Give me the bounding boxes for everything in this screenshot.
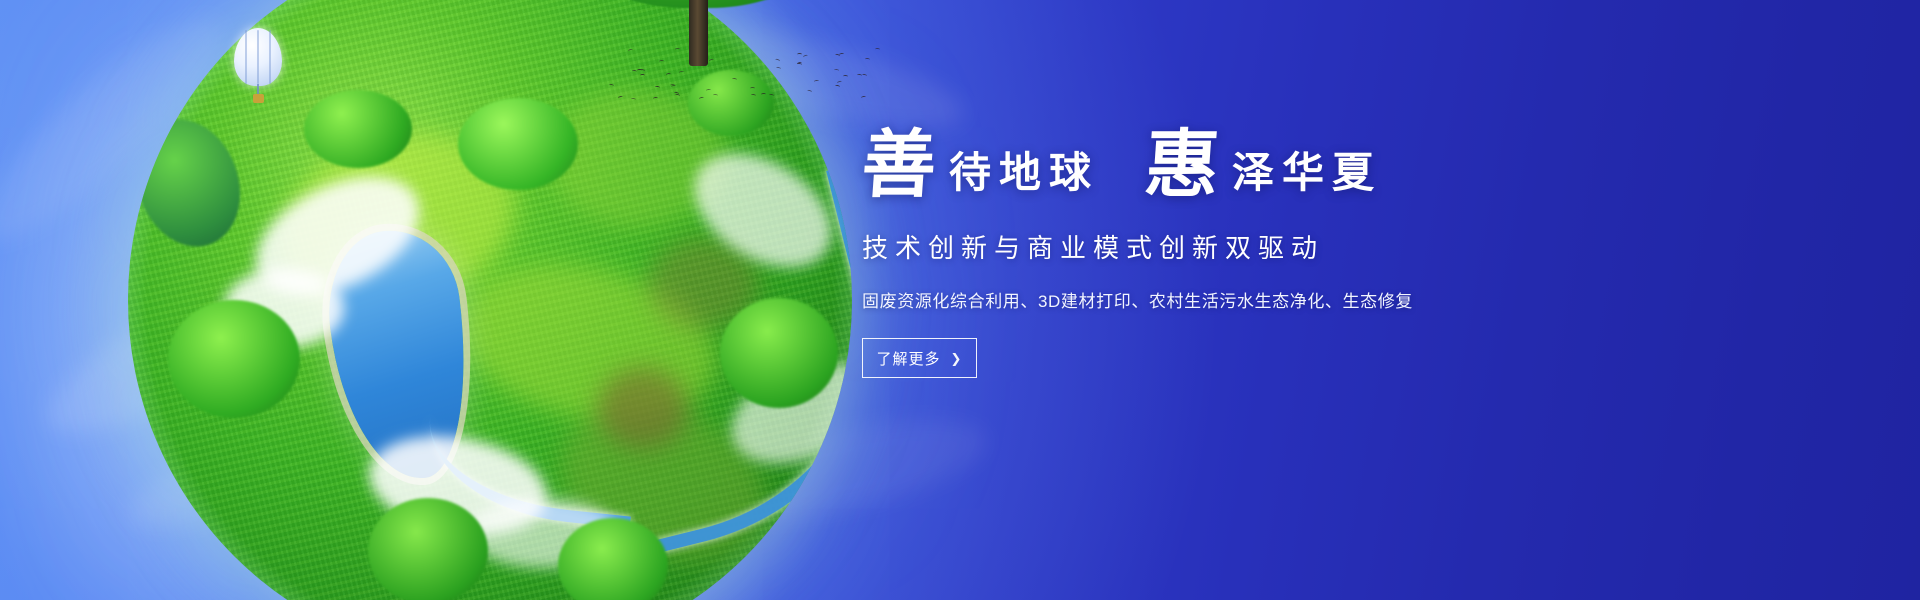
hero-content: 善 待地球 惠 泽华夏 技术创新与商业模式创新双驱动 固废资源化综合利用、3D建…: [862, 128, 1822, 378]
bird-icon: [659, 60, 664, 63]
bird-icon: [618, 95, 624, 99]
bird-icon: [750, 87, 755, 90]
chevron-right-icon: ❯: [951, 352, 963, 365]
bird-icon: [675, 93, 681, 97]
bird-icon: [769, 93, 774, 97]
bird-icon: [699, 97, 705, 101]
bird-icon: [608, 84, 614, 88]
bird-icon: [706, 88, 711, 92]
bird-icon: [666, 73, 672, 77]
tree-canopy: [720, 298, 838, 408]
hot-air-balloon-icon: [234, 28, 282, 106]
bird-icon: [834, 85, 840, 89]
page-subtitle: 技术创新与商业模式创新双驱动: [862, 228, 1822, 265]
headline-char-primary-1: 善: [859, 128, 939, 202]
bird-icon: [761, 93, 766, 96]
bird-icon: [776, 67, 782, 71]
bird-icon: [843, 75, 848, 78]
bird-icon: [653, 97, 658, 101]
bird-icon: [655, 86, 660, 89]
bird-icon: [802, 54, 808, 58]
balloon-stripe: [269, 30, 271, 84]
bird-icon: [861, 95, 867, 99]
bird-icon: [679, 70, 684, 74]
bird-icon: [836, 80, 842, 84]
page-description: 固废资源化综合利用、3D建材打印、农村生活污水生态净化、生态修复: [862, 287, 1822, 312]
bird-icon: [862, 74, 868, 78]
bird-icon: [713, 94, 718, 97]
bird-icon: [834, 68, 839, 72]
bird-icon: [631, 98, 636, 102]
hero-banner: 善 待地球 惠 泽华夏 技术创新与商业模式创新双驱动 固废资源化综合利用、3D建…: [0, 0, 1920, 600]
bird-icon: [709, 58, 715, 62]
bird-icon: [732, 77, 737, 81]
learn-more-button[interactable]: 了解更多 ❯: [862, 338, 977, 378]
tree-canopy: [304, 90, 412, 168]
bird-icon: [640, 74, 645, 77]
bird-icon: [813, 79, 818, 83]
learn-more-label: 了解更多: [877, 348, 941, 369]
bird-icon: [857, 74, 862, 78]
bird-icon: [864, 57, 869, 60]
bird-icon: [875, 48, 880, 51]
bird-icon: [775, 58, 781, 62]
tree-canopy: [458, 98, 578, 190]
headline-text-2: 泽华夏: [1232, 152, 1382, 194]
balloon-stripe: [257, 30, 259, 84]
bird-icon: [807, 89, 813, 93]
bird-icon: [675, 48, 680, 51]
bird-flock-icon: [596, 48, 886, 102]
bird-icon: [797, 53, 802, 56]
balloon-stripe: [245, 30, 247, 84]
tree-canopy: [168, 300, 300, 418]
bird-icon: [797, 63, 802, 67]
bird-icon: [628, 48, 634, 52]
tree-canopy: [368, 498, 488, 600]
balloon-basket: [253, 94, 264, 103]
bird-icon: [639, 68, 645, 72]
page-title: 善 待地球 惠 泽华夏: [862, 128, 1822, 202]
bird-icon: [751, 94, 756, 98]
headline-char-primary-2: 惠: [1142, 128, 1222, 202]
headline-text-1: 待地球: [949, 152, 1099, 194]
